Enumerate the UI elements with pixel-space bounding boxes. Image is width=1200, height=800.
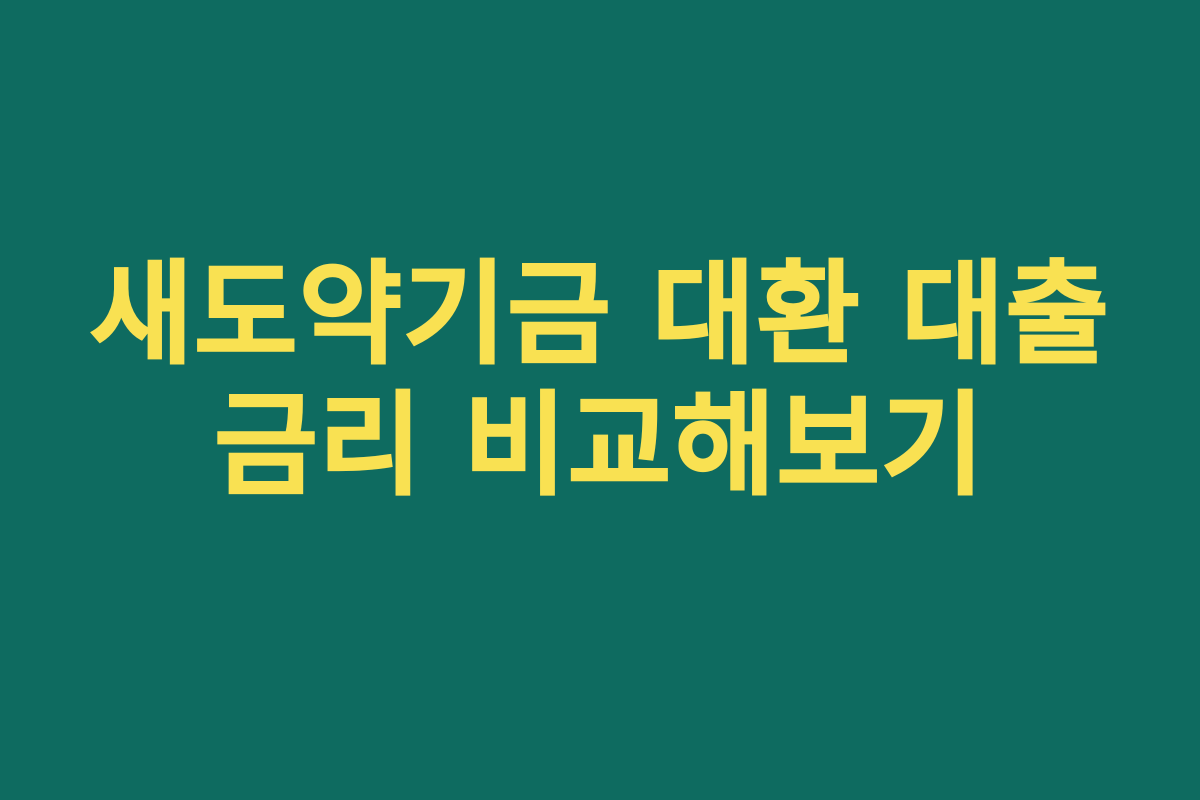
headline-line-1: 새도약기금 대환 대출 (0, 250, 1200, 381)
title-banner: 새도약기금 대환 대출 금리 비교해보기 (0, 0, 1200, 800)
headline-line-2: 금리 비교해보기 (0, 381, 1200, 512)
headline-block: 새도약기금 대환 대출 금리 비교해보기 (0, 250, 1200, 512)
